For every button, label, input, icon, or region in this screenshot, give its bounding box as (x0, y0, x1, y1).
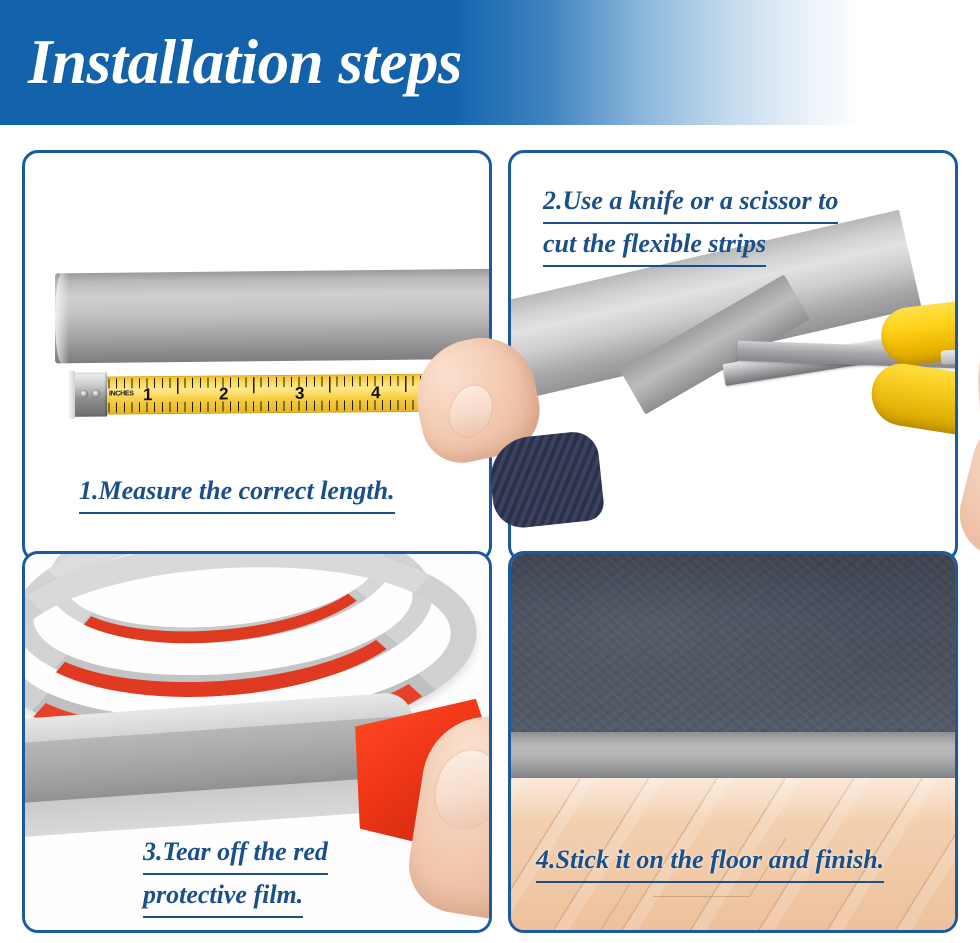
step-2-image: 2.Use a knife or a scissor to cut the fl… (511, 153, 955, 559)
installed-trim-strip (511, 732, 955, 779)
step-3-panel: 3.Tear off the red protective film. (22, 551, 492, 933)
step-4-image: 4.Stick it on the floor and finish. (511, 554, 955, 930)
step-1-caption-line-1: 1.Measure the correct length. (79, 471, 395, 514)
gray-trim-strip (55, 269, 489, 364)
tape-number-1: 1 (143, 386, 152, 404)
page-title: Installation steps (28, 24, 462, 100)
step-2-caption: 2.Use a knife or a scissor to cut the fl… (543, 181, 838, 267)
step-2-caption-line-1: 2.Use a knife or a scissor to (543, 181, 838, 224)
scissor-handle-lower (867, 359, 955, 444)
tape-number-4: 4 (371, 384, 380, 402)
tape-number-2: 2 (219, 385, 228, 403)
step-4-caption: 4.Stick it on the floor and finish. (536, 840, 884, 883)
step-1-caption: 1.Measure the correct length. (79, 471, 395, 514)
step-4-caption-line-1: 4.Stick it on the floor and finish. (536, 840, 884, 883)
step-1-image: INCHES 1 2 3 4 5 1.Measure the correct l… (25, 153, 489, 559)
header-banner: Installation steps (0, 0, 980, 125)
step-3-caption: 3.Tear off the red protective film. (143, 832, 328, 918)
step-3-caption-line-1: 3.Tear off the red (143, 832, 328, 875)
steps-grid: INCHES 1 2 3 4 5 1.Measure the correct l… (0, 125, 980, 943)
palm (971, 263, 980, 578)
step-3-image: 3.Tear off the red protective film. (25, 554, 489, 930)
scissor-handle-notch (941, 347, 955, 364)
tape-hook-lip (68, 371, 75, 419)
hand-peeling-film (407, 672, 489, 930)
tape-number-5: 5 (447, 383, 456, 401)
floor-highlight (511, 778, 955, 820)
step-2-panel: 2.Use a knife or a scissor to cut the fl… (508, 150, 958, 562)
tape-measure: INCHES 1 2 3 4 5 (73, 373, 489, 413)
tape-numbers: 1 2 3 4 5 (101, 374, 489, 413)
tape-number-3: 3 (295, 385, 304, 403)
tape-hook (73, 373, 107, 417)
dark-wall (511, 554, 955, 735)
step-1-panel: INCHES 1 2 3 4 5 1.Measure the correct l… (22, 150, 492, 562)
step-3-caption-line-2: protective film. (143, 875, 303, 918)
tape-blade: INCHES 1 2 3 4 5 (101, 373, 489, 414)
step-2-caption-line-2: cut the flexible strips (543, 224, 766, 267)
step-4-panel: 4.Stick it on the floor and finish. (508, 551, 958, 933)
